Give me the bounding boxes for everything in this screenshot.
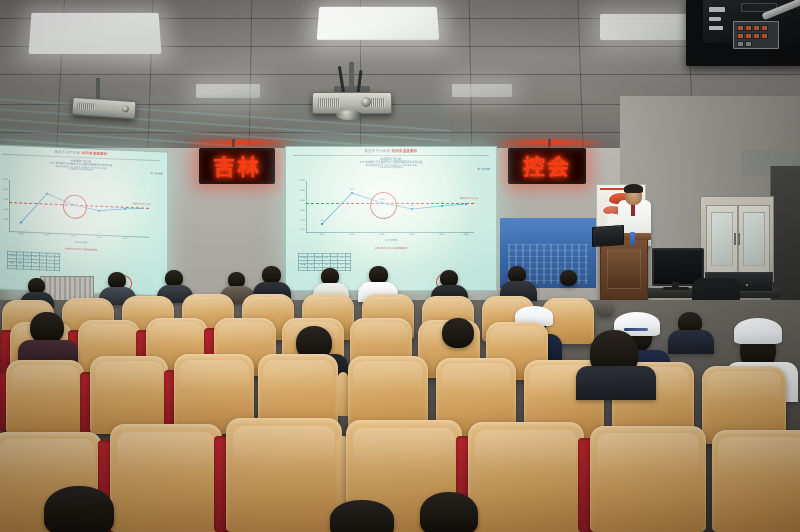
audience-head xyxy=(560,270,577,286)
data-label: 7.27 xyxy=(440,202,443,204)
x-tick: 2012年 xyxy=(349,234,354,236)
chart-annotation-circle xyxy=(370,192,397,219)
slide-content-main: 我这不只六年来 时间有温度解析 中医医院门诊分析 5.17 省内医疗卫生服务中心… xyxy=(286,147,496,290)
right-led-sign: 控会 xyxy=(508,148,586,184)
audience-shoulders xyxy=(576,366,656,400)
x-tick: 2013年 xyxy=(379,234,384,236)
y-tick: 6.00% xyxy=(300,211,305,212)
projection-screen-main: 我这不只六年来 时间有温度解析 中医医院门诊分析 5.17 省内医疗卫生服务中心… xyxy=(285,146,497,291)
slide-note2: (注:数据经单位内部整理校核) xyxy=(291,167,491,169)
chart-plot-area: 12.00% 10.00% 8.00% 6.00% 4.00% 2.00% 20… xyxy=(306,181,474,233)
chart-annotation-circle-side xyxy=(63,194,87,219)
right-led-text: 控会 xyxy=(523,150,571,182)
projection-screen-side: 我这不只六年来 时间有温度解析 中医医院门诊分析 5.17 省内医疗卫生服务中心… xyxy=(0,144,168,296)
projector-mount xyxy=(349,62,354,88)
auditorium-seat[interactable] xyxy=(110,424,222,532)
table-cell: 1.02 xyxy=(315,267,323,270)
data-label: 10.72 xyxy=(350,189,354,191)
presenter-hair xyxy=(624,184,643,193)
auditorium-seat[interactable] xyxy=(226,418,342,532)
y-tick: 4.00% xyxy=(300,221,305,222)
audience-head xyxy=(44,486,114,532)
x-tick: 2015年 xyxy=(439,234,444,236)
auditorium-seat[interactable] xyxy=(468,422,584,532)
y-tick: 10.00% xyxy=(300,191,305,192)
data-table-side: 项目 2012年 2013年 2014年 2015年 2016年 合计 门诊总量… xyxy=(7,251,60,272)
x-tick: 2016年 xyxy=(463,234,468,236)
y-tick: 12.00% xyxy=(300,181,305,182)
slide-content-side: 我这不只六年来 时间有温度解析 中医医院门诊分析 5.17 省内医疗卫生服务中心… xyxy=(0,145,167,295)
data-label: 3.5 xyxy=(321,220,323,222)
nurse-cap xyxy=(734,318,782,344)
ceiling-light-panel xyxy=(452,84,512,97)
presenter-laptop[interactable] xyxy=(592,225,624,247)
conference-room-photo: 吉林 控会 我这不只六年来 时间有温度解析 中医医院门诊分析 5.17 省内医疗… xyxy=(0,0,800,532)
slide-corner-note-side: 图一:同比数据 xyxy=(150,172,163,176)
chart-caption: 注:年平均增速 xyxy=(286,239,496,242)
nurse-cap-band xyxy=(624,328,648,331)
ceiling-light-panel xyxy=(600,14,696,40)
presenter-tie xyxy=(631,204,635,216)
auditorium-seat[interactable] xyxy=(6,360,84,434)
slide-eyebrow: 我这不只六年来 xyxy=(365,149,391,153)
auditorium-seat[interactable] xyxy=(712,430,800,532)
audience-head xyxy=(420,492,478,532)
projector-mount xyxy=(96,78,100,100)
table-cell: 0.91 xyxy=(338,267,345,270)
y-tick: 8.00% xyxy=(300,201,305,202)
wall-display-rear xyxy=(686,0,800,66)
table-cell: 1.04 xyxy=(345,267,350,270)
auditorium-seat[interactable] xyxy=(590,426,706,532)
projector-lens xyxy=(336,110,362,120)
audience-head xyxy=(596,300,614,317)
slide-title: 我这不只六年来 时间有温度解析 xyxy=(291,150,491,154)
audience-head xyxy=(442,318,474,348)
seat-armrest xyxy=(338,372,348,416)
slide-title-text: 时间有温度解析 xyxy=(392,149,418,153)
x-tick: 2014年 xyxy=(409,234,414,236)
left-led-text: 吉林 xyxy=(213,150,261,182)
table-cell: 年增长率 xyxy=(299,267,308,270)
doorway xyxy=(770,166,800,306)
slide-corner-note: 图一:同比数据 xyxy=(477,168,490,171)
storage-cabinet[interactable] xyxy=(700,196,774,282)
ceiling-light-panel xyxy=(317,7,440,40)
y-tick: 2.00% xyxy=(300,230,305,231)
audience-head xyxy=(330,500,394,532)
auditorium-seat[interactable] xyxy=(90,356,168,434)
table-cell: 0.96 xyxy=(307,267,314,270)
x-tick: 2011年 xyxy=(319,234,324,236)
left-led-sign: 吉林 xyxy=(199,148,275,184)
water-bottle xyxy=(630,232,635,245)
table-title: 主要专科(近五年)门诊量增幅数据表 xyxy=(286,247,496,250)
audience-shoulders xyxy=(668,330,714,354)
tv-port-panel xyxy=(733,21,779,49)
ceiling-light-panel xyxy=(29,13,162,54)
chart-reference-label: 全国平均水平 (7.5%) xyxy=(460,197,478,200)
chart-plot-area-side: 12.00% 10.00% 8.00% 6.00% 4.00% 2011年 20… xyxy=(9,180,149,238)
data-label: 6.64 xyxy=(410,205,413,207)
